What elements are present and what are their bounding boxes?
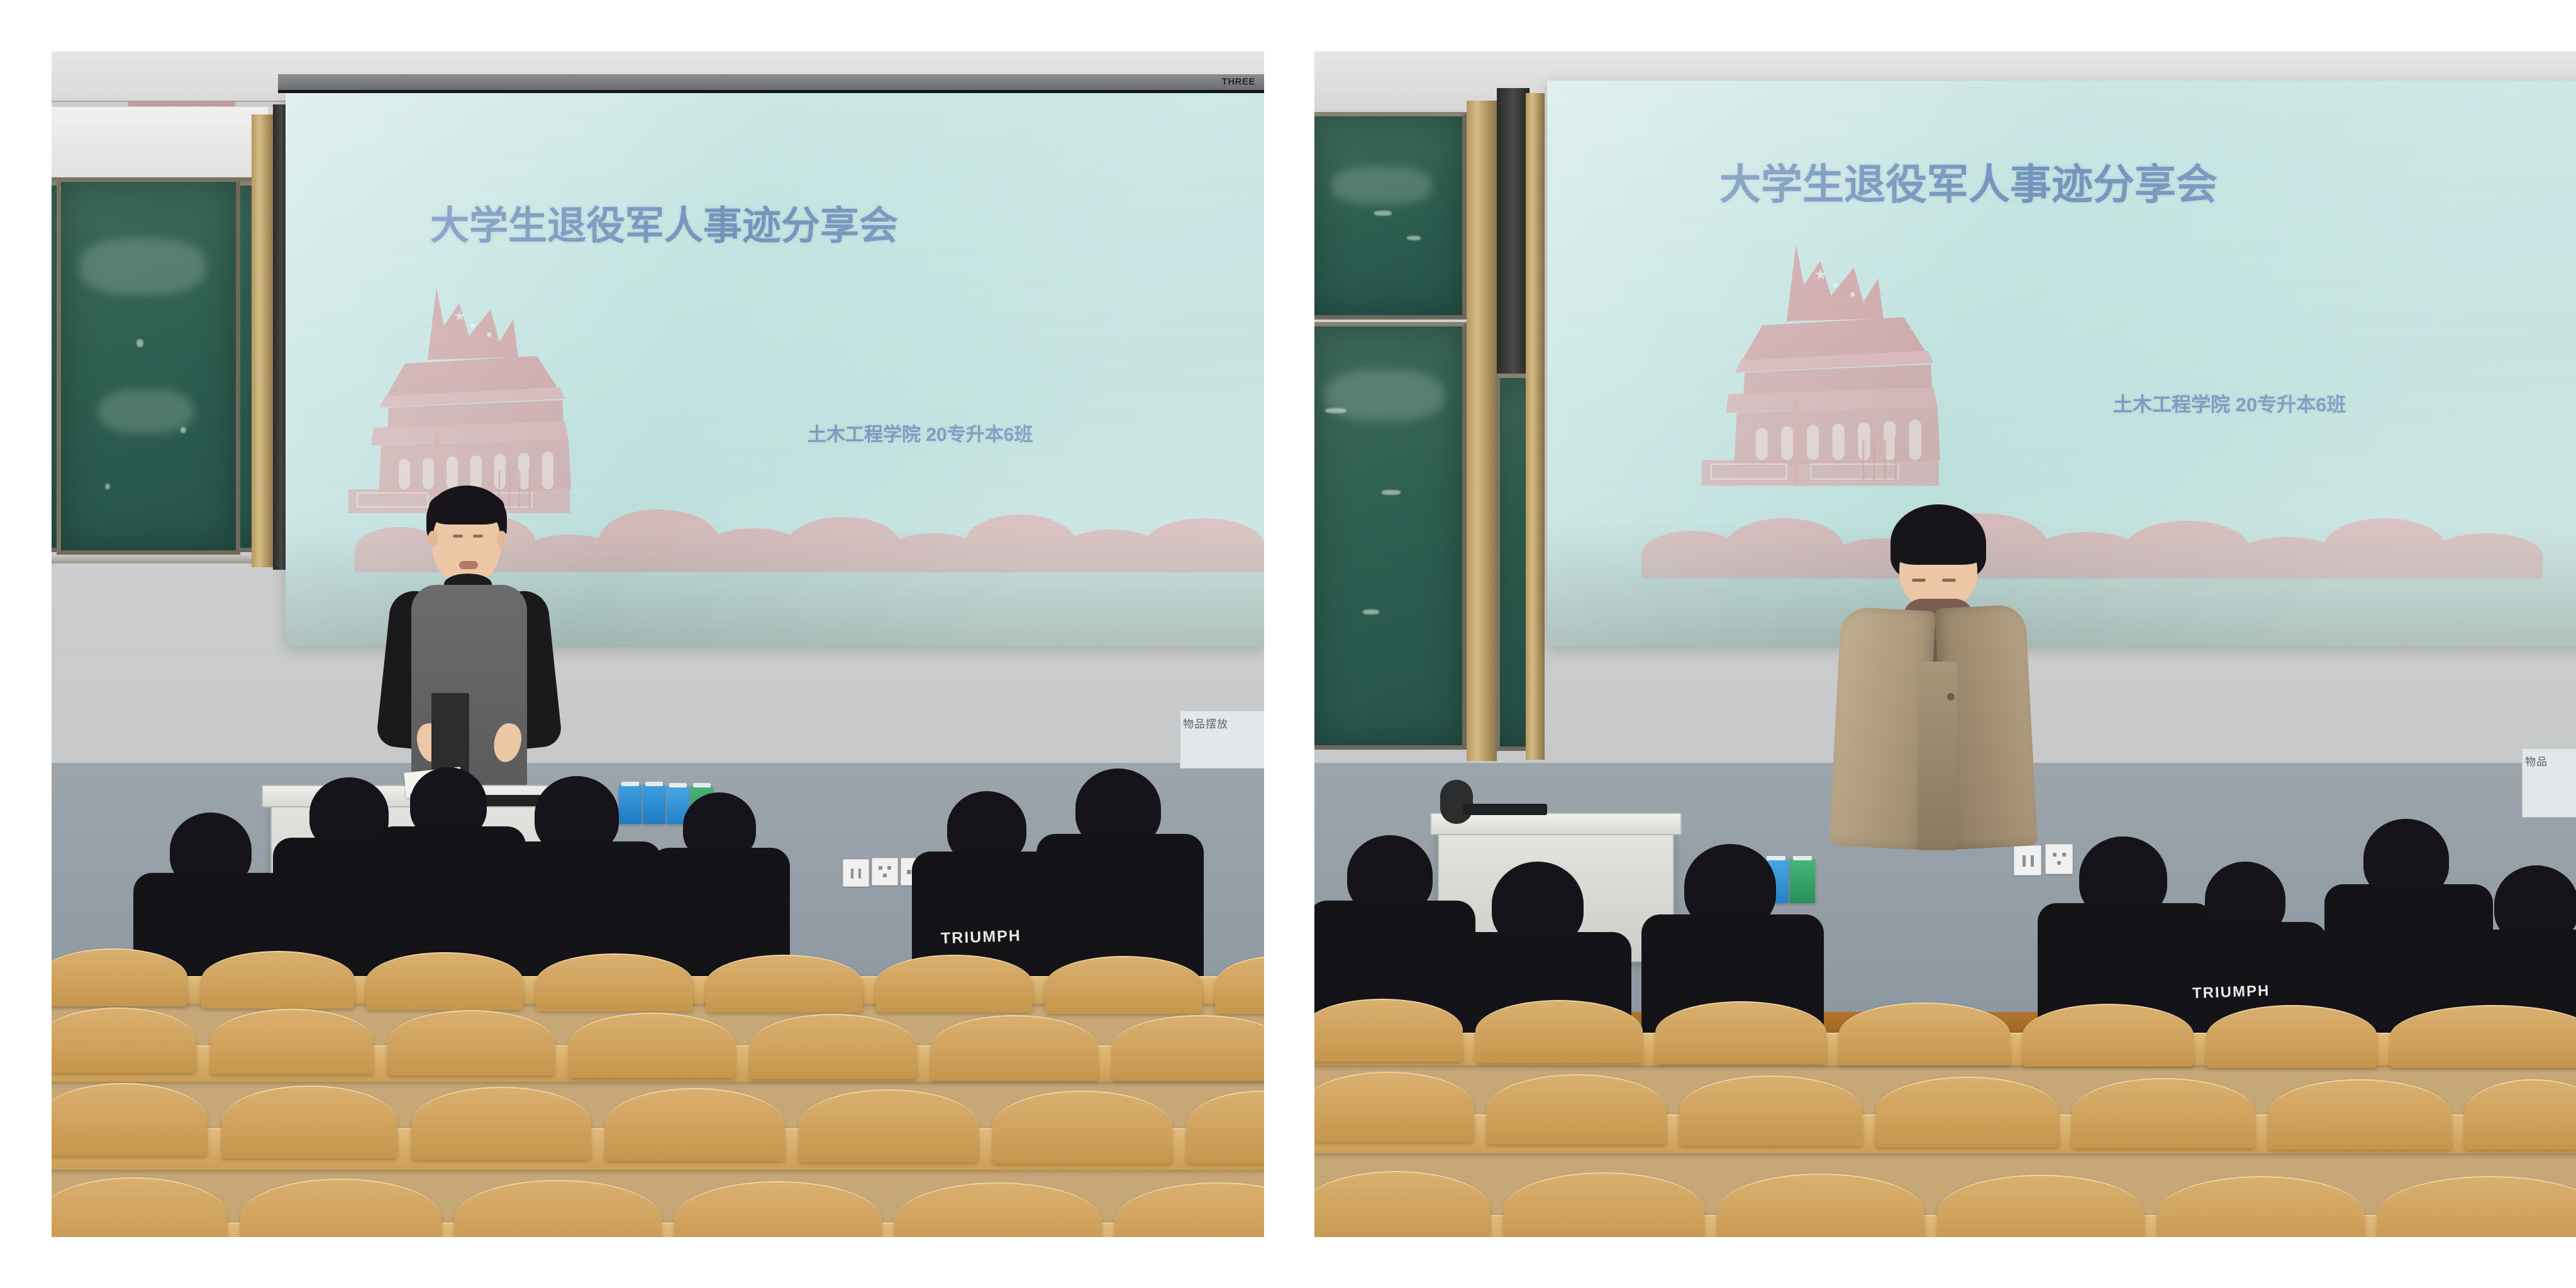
chalkboard-right-lower [1314, 322, 1467, 750]
seat-1-5-right [2023, 1004, 2194, 1067]
projector-brand-logo: THREE [1222, 76, 1255, 87]
seat-2-2-left [210, 1009, 374, 1074]
seat-1-6-right [2206, 1005, 2377, 1068]
seat-3-5-left [799, 1089, 979, 1162]
presenter-ear-l [428, 531, 438, 547]
wall-sign-text-right: 物品 [2525, 753, 2548, 769]
seat-2-3-left [387, 1010, 555, 1075]
wall-sign-left: 物品摆放 [1180, 711, 1264, 769]
seat-1-4-left [536, 953, 693, 1011]
seat-3-1-left [52, 1083, 208, 1156]
seat-1-1-left [52, 948, 187, 1006]
seat-3-6-left [992, 1091, 1172, 1163]
presenter-ear-r [497, 531, 507, 547]
board-frame-column-right-2 [1526, 93, 1545, 760]
seat-2-1-left [52, 1008, 196, 1073]
chalk-tray-left [52, 555, 273, 563]
seat-1-5-left [706, 955, 863, 1013]
seat-2-1-right [1314, 1072, 1474, 1142]
seat-1-6-left [875, 955, 1033, 1013]
slide-subtitle-right: 土木工程学院 20专升本6班 [2113, 389, 2346, 417]
outlet-2-left [872, 858, 898, 885]
seat-1-1-right [1314, 999, 1463, 1062]
seat-2-3-right [1679, 1075, 1863, 1146]
seat-2-5-right [2072, 1078, 2255, 1148]
seat-2-6-right [2268, 1079, 2451, 1150]
seat-2-2-right [1487, 1074, 1667, 1145]
slide-title-left: 大学生退役军人事迹分享会 [430, 194, 898, 250]
hill-decor-right [1547, 504, 2576, 579]
projector-screen-housing-left: THREE [278, 74, 1264, 93]
seat-2-6-left [931, 1015, 1098, 1080]
outlet-2-right [2045, 844, 2073, 874]
wall-sign-text-left: 物品摆放 [1183, 715, 1228, 731]
seat-1-4-right [1839, 1002, 2010, 1065]
seat-1-3-left [366, 952, 523, 1010]
presenter-left [379, 486, 561, 813]
presenter-coat-button [1947, 693, 1955, 701]
seat-1-2-right [1475, 1000, 1643, 1063]
seat-3-4-left [605, 1088, 785, 1161]
board-frame-column-left [252, 114, 274, 567]
seat-1-7-right [2390, 1005, 2576, 1068]
tiananmen-illustration-right [1660, 238, 2012, 521]
seat-2-4-left [569, 1013, 736, 1078]
chalkboard-right-upper [1314, 112, 1467, 319]
outlet-1-left [843, 859, 869, 887]
slide-subtitle-left: 土木工程学院 20专升本6班 [808, 419, 1033, 447]
drink-carton-4-right [1790, 859, 1815, 903]
presenter-hairline-left [429, 489, 504, 525]
seat-2-4-right [1875, 1077, 2059, 1147]
board-frame-column-right [1467, 101, 1497, 761]
seat-2-5-left [750, 1014, 917, 1079]
presenter-right [1824, 504, 2031, 857]
seat-3-3-left [411, 1087, 591, 1160]
seat-1-7-left [1045, 956, 1202, 1014]
ceiling-mark-a [128, 101, 235, 106]
microphone-arm-right [1463, 804, 1547, 815]
screenshot-root: THREE [0, 0, 2576, 1288]
drink-carton-1-left [619, 785, 641, 824]
projection-screen-right: 大学生退役军人事迹分享会 土木工程学院 20专升本6班 [1547, 80, 2576, 647]
drink-carton-2-left [643, 785, 665, 824]
seat-1-2-left [201, 951, 355, 1009]
presenter-coat-placket [1918, 662, 1957, 850]
wall-sign-right: 物品 [2522, 748, 2576, 818]
microphone-head-right [1440, 780, 1473, 824]
presenter-hairline-right [1893, 522, 1985, 565]
seat-3-2-left [221, 1085, 397, 1158]
photo-right: 大学生退役军人事迹分享会 土木工程学院 20专升本6班 物品 [1314, 52, 2576, 1237]
seat-1-3-right [1655, 1001, 1826, 1064]
jacket-text-left: TRIUMPH [941, 927, 1022, 948]
photo-left: THREE [52, 52, 1264, 1237]
slide-title-right: 大学生退役军人事迹分享会 [1719, 151, 2218, 211]
jacket-text-right: TRIUMPH [2192, 982, 2270, 1002]
